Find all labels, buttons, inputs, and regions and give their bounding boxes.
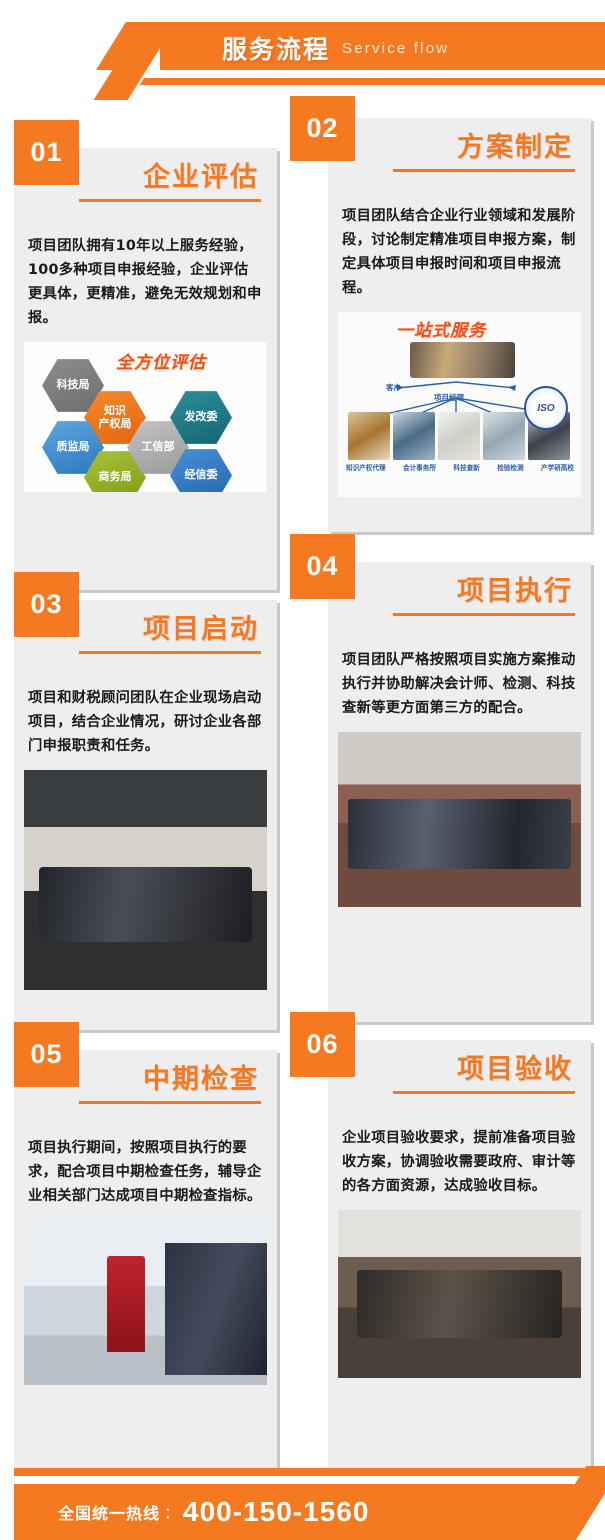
title-underline bbox=[393, 613, 575, 616]
caption-novelty-search: 科技查新 bbox=[453, 462, 479, 472]
caption-accounting-firm: 会计事务所 bbox=[403, 462, 436, 472]
card-title: 项目验收 bbox=[344, 1052, 575, 1086]
caption-ip-agency: 知识产权代理 bbox=[346, 462, 386, 472]
step-number-badge: 04 bbox=[290, 534, 355, 599]
step-number-badge: 06 bbox=[290, 1012, 355, 1077]
laptop-meeting-photo bbox=[338, 732, 581, 907]
one-stop-node-manager: 项目经理 bbox=[434, 392, 464, 403]
process-card-01[interactable]: 01 企业评估 项目团队拥有10年以上服务经验，100多种项目申报经验，企业评估… bbox=[14, 148, 277, 590]
process-card-grid: 01 企业评估 项目团队拥有10年以上服务经验，100多种项目申报经验，企业评估… bbox=[0, 100, 605, 1430]
card-media-hexagon-assessment: 全方位评估 科技局 知识产权局 质监局 商务局 工信部 发改委 经信委 bbox=[24, 342, 267, 492]
card-media-laptop-meeting bbox=[338, 732, 581, 907]
title-underline bbox=[79, 651, 261, 654]
step-number-badge: 05 bbox=[14, 1022, 79, 1087]
one-stop-node-customer: 客户 bbox=[386, 382, 401, 393]
page-subtitle: Service flow bbox=[342, 40, 449, 57]
card-media-boardroom bbox=[338, 1210, 581, 1378]
hotline-group: 全国统一热线 ： 400-150-1560 bbox=[58, 1484, 369, 1540]
card-body-text: 项目和财税顾问团队在企业现场启动项目，结合企业情况，研讨企业各部门申报职责和任务… bbox=[14, 676, 277, 766]
card-media-one-stop-service: 一站式服务 客户 bbox=[338, 312, 581, 497]
thumb-inspection-testing bbox=[483, 412, 525, 460]
card-body-text: 企业项目验收要求，提前准备项目验收方案，协调验收需要政府、审计等的各方面资源，达… bbox=[328, 1116, 591, 1206]
card-header: 方案制定 bbox=[328, 118, 591, 194]
header-title-group: 服务流程 Service flow bbox=[222, 28, 449, 68]
card-body-text: 项目执行期间，按照项目执行的要求，配合项目中期检查任务，辅导企业相关部门达成项目… bbox=[14, 1126, 277, 1216]
page-header: 服务流程 Service flow bbox=[0, 0, 605, 108]
page-footer: 全国统一热线 ： 400-150-1560 bbox=[0, 1420, 605, 1538]
thumb-ip-agency bbox=[348, 412, 390, 460]
process-card-06[interactable]: 06 项目验收 企业项目验收要求，提前准备项目验收方案，协调验收需要政府、审计等… bbox=[328, 1040, 591, 1468]
card-header: 项目验收 bbox=[328, 1040, 591, 1116]
boardroom-photo bbox=[338, 1210, 581, 1378]
process-card-03[interactable]: 03 项目启动 项目和财税顾问团队在企业现场启动项目，结合企业情况，研讨企业各部… bbox=[14, 600, 277, 1030]
card-media-conference-room bbox=[24, 770, 267, 990]
card-header: 项目执行 bbox=[328, 562, 591, 638]
title-underline bbox=[393, 169, 575, 172]
step-number-badge: 03 bbox=[14, 572, 79, 637]
step-number-badge: 01 bbox=[14, 120, 79, 185]
caption-university: 产学研高校 bbox=[541, 462, 574, 472]
process-card-04[interactable]: 04 项目执行 项目团队严格按照项目实施方案推动执行并协助解决会计师、检测、科技… bbox=[328, 562, 591, 1022]
card-body-text: 项目团队严格按照项目实施方案推动执行并协助解决会计师、检测、科技查新等更方面第三… bbox=[328, 638, 591, 728]
step-number-badge: 02 bbox=[290, 96, 355, 161]
footer-orange-rule bbox=[14, 1468, 565, 1476]
site-visit-photo bbox=[24, 1220, 267, 1385]
page-title: 服务流程 bbox=[222, 30, 330, 66]
process-card-02[interactable]: 02 方案制定 项目团队结合企业行业领域和发展阶段，讨论制定精准项目申报方案，制… bbox=[328, 118, 591, 532]
hexagon-diagram-title: 全方位评估 bbox=[116, 348, 206, 373]
one-stop-captions: 知识产权代理 会计事务所 科技查新 检验检测 产学研高校 bbox=[346, 462, 574, 472]
hotline-label: 全国统一热线 bbox=[58, 1500, 160, 1524]
header-orange-underline bbox=[170, 78, 605, 85]
hexagon-diagram: 全方位评估 科技局 知识产权局 质监局 商务局 工信部 发改委 经信委 bbox=[24, 342, 267, 492]
title-underline bbox=[79, 1101, 261, 1104]
card-title: 方案制定 bbox=[344, 130, 575, 164]
thumb-novelty-search bbox=[438, 412, 480, 460]
conference-room-photo bbox=[24, 770, 267, 990]
card-media-site-visit bbox=[24, 1220, 267, 1385]
process-card-05[interactable]: 05 中期检查 项目执行期间，按照项目执行的要求，配合项目中期检查任务，辅导企业… bbox=[14, 1050, 277, 1468]
caption-inspection: 检验检测 bbox=[497, 462, 523, 472]
hotline-colon: ： bbox=[164, 1502, 179, 1523]
iso-seal-icon: ISO bbox=[524, 386, 568, 430]
thumb-accounting-firm bbox=[393, 412, 435, 460]
card-body-text: 项目团队拥有10年以上服务经验，100多种项目申报经验，企业评估更具体，更精准，… bbox=[14, 224, 277, 338]
title-underline bbox=[393, 1091, 575, 1094]
card-title: 项目执行 bbox=[344, 574, 575, 608]
hotline-number[interactable]: 400-150-1560 bbox=[183, 1496, 369, 1528]
card-body-text: 项目团队结合企业行业领域和发展阶段，讨论制定精准项目申报方案，制定具体项目申报时… bbox=[328, 194, 591, 308]
title-underline bbox=[79, 199, 261, 202]
one-stop-service-diagram: 一站式服务 客户 bbox=[338, 312, 581, 497]
